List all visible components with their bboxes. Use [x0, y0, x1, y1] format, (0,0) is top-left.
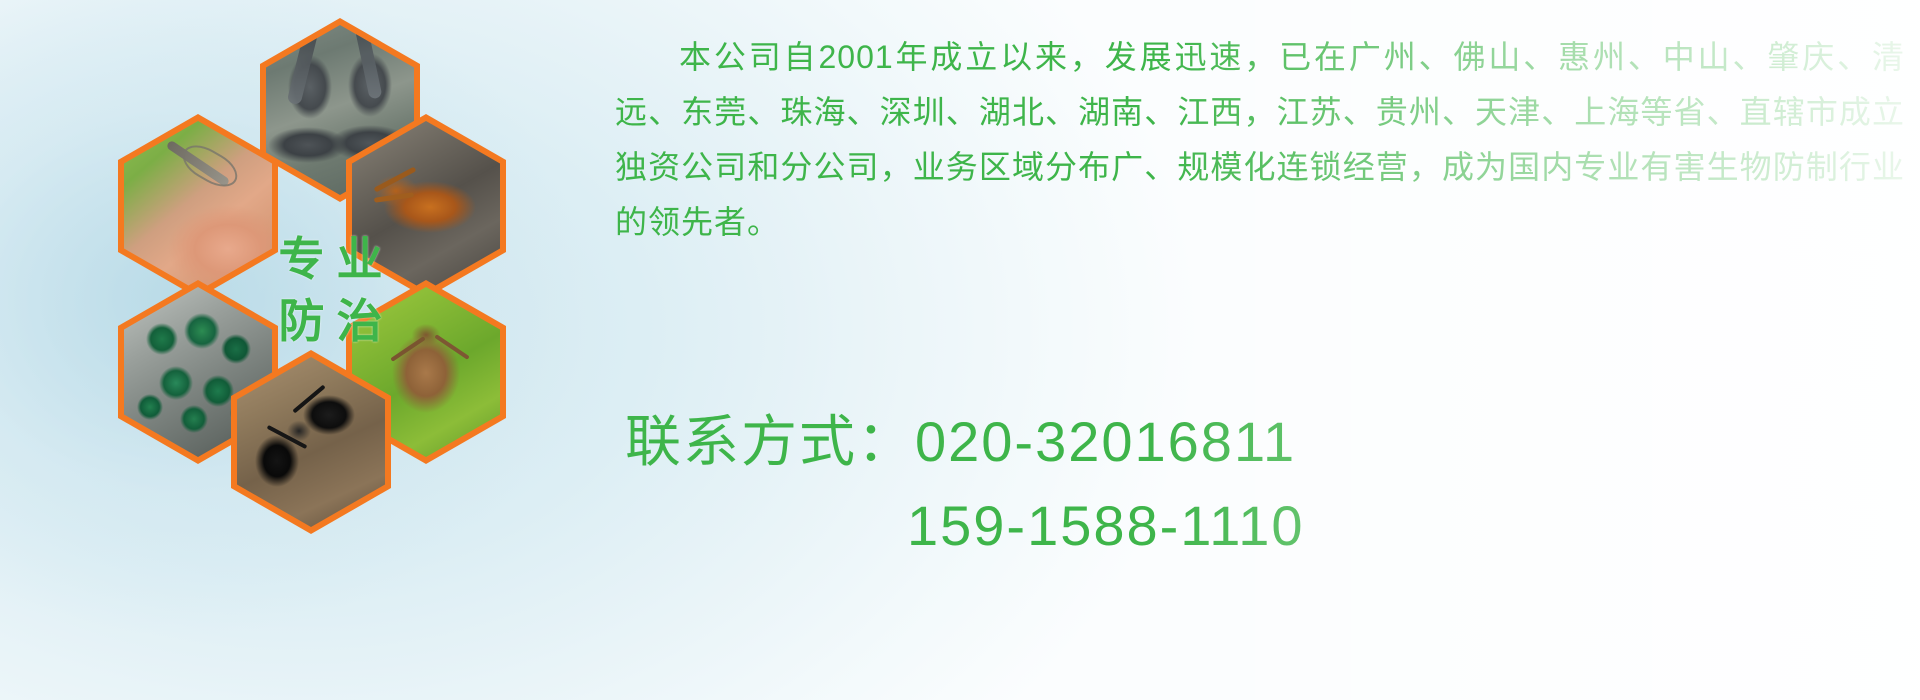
- honeycomb-label-line-1: 专业: [267, 228, 395, 290]
- contact-line-primary[interactable]: 联系方式：020-32016811: [625, 400, 1915, 484]
- company-intro-block: 本公司自2001年成立以来，发展迅速，已在广州、佛山、惠州、中山、肇庆、清远、东…: [615, 30, 1905, 250]
- pest-control-banner: 专业 防治 本公司自2001年成立以来，发展迅速，已在广州、佛山、惠州、中山、肇…: [0, 0, 1920, 700]
- contact-line-secondary[interactable]: 159-1588-1110: [625, 484, 1915, 568]
- company-intro-paragraph: 本公司自2001年成立以来，发展迅速，已在广州、佛山、惠州、中山、肇庆、清远、东…: [615, 30, 1905, 250]
- honeycomb-image-cluster: 专业 防治: [88, 10, 588, 555]
- honeycomb-center-label: 专业 防治: [248, 195, 413, 385]
- contact-block: 联系方式：020-32016811 159-1588-1110: [625, 400, 1915, 568]
- company-intro-text: 本公司自2001年成立以来，发展迅速，已在广州、佛山、惠州、中山、肇庆、清远、东…: [615, 30, 1905, 250]
- honeycomb-label-line-2: 防治: [267, 290, 395, 352]
